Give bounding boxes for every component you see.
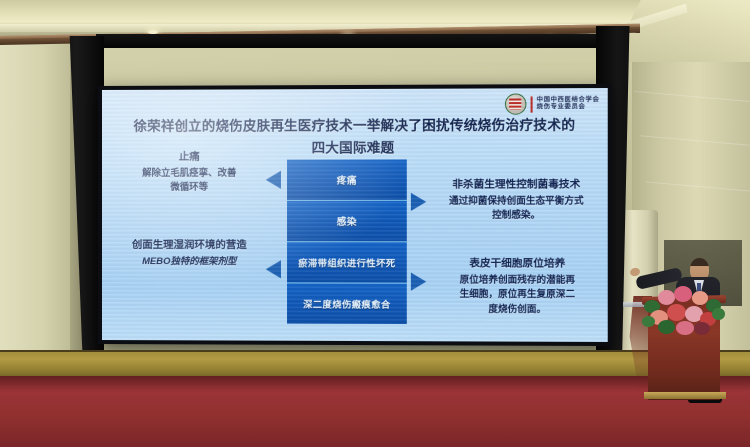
stage-curtain-valance: [96, 34, 606, 48]
note-body-line: 生细胞，原位再生复原深二: [431, 287, 603, 302]
note-heading: 表皮干细胞原位培养: [431, 256, 603, 273]
association-name-line2: 烧伤专业委员会: [537, 104, 600, 111]
slide-title-line1: 徐荣祥创立的烧伤皮肤再生医疗技术一举解决了困扰传统烧伤治疗技术的: [128, 115, 581, 138]
note-heading: 非杀菌生理性控制菌毒技术: [431, 177, 601, 193]
challenge-box-1: 疼痛: [287, 159, 407, 200]
arrow-right-icon: [411, 273, 426, 291]
note-body-line: 微循环等: [108, 180, 271, 194]
association-logo: 中国中西医结合学会 烧伤专业委员会: [505, 93, 600, 115]
note-heading: 创面生理湿润环境的营造: [104, 238, 275, 254]
association-logo-text: 中国中西医结合学会 烧伤专业委员会: [537, 97, 600, 111]
projection-screen-frame: 中国中西医结合学会 烧伤专业委员会 徐荣祥创立的烧伤皮肤再生医疗技术一举解决了困…: [98, 84, 612, 346]
podium-flower-arrangement: [640, 282, 728, 338]
arrow-right-icon: [411, 193, 426, 211]
challenge-label: 深二度烧伤瘢痕愈合: [303, 297, 391, 311]
challenge-box-4: 深二度烧伤瘢痕愈合: [287, 283, 407, 324]
note-heading: 止痛: [108, 150, 271, 166]
challenge-box-3: 瘀滞带组织进行性坏死: [287, 242, 407, 283]
note-left-pain-relief: 止痛 解除立毛肌痉挛、改善 微循环等: [108, 150, 271, 195]
note-right-infection-control: 非杀菌生理性控制菌毒技术 通过抑菌保持创面生态平衡方式 控制感染。: [431, 177, 601, 222]
presentation-slide: 中国中西医结合学会 烧伤专业委员会 徐荣祥创立的烧伤皮肤再生医疗技术一举解决了困…: [102, 88, 608, 342]
note-right-stem-cell-culture: 表皮干细胞原位培养 原位培养创面残存的潜能再 生细胞，原位再生复原深二 度烧伤创…: [431, 256, 603, 316]
challenge-label: 感染: [337, 214, 357, 228]
logo-divider: [530, 96, 532, 112]
projection-screen: 中国中西医结合学会 烧伤专业委员会 徐荣祥创立的烧伤皮肤再生医疗技术一举解决了困…: [102, 88, 608, 342]
challenge-box-2: 感染: [287, 201, 407, 242]
note-body-line: 控制感染。: [431, 208, 601, 223]
note-body-line: 通过抑菌保持创面生态平衡方式: [431, 194, 601, 209]
note-left-moist-environment: 创面生理湿润环境的营造 MEBO独特的框架剂型: [104, 238, 275, 269]
challenge-label: 瘀滞带组织进行性坏死: [298, 255, 395, 269]
left-wall-column: [0, 30, 78, 360]
challenge-label: 疼痛: [337, 173, 357, 187]
note-body-line: 度烧伤创面。: [431, 302, 603, 317]
four-challenges-stack: 疼痛 感染 瘀滞带组织进行性坏死 深二度烧伤瘢痕愈合: [287, 159, 407, 324]
podium-base-trim: [644, 392, 726, 399]
note-body-line: 解除立毛肌痉挛、改善: [108, 166, 271, 181]
conference-hall-photo: 中国中西医结合学会 烧伤专业委员会 徐荣祥创立的烧伤皮肤再生医疗技术一举解决了困…: [0, 0, 750, 447]
association-emblem-icon: [505, 93, 527, 114]
note-body-line: MEBO独特的框架剂型: [104, 254, 275, 269]
note-body-line: 原位培养创面残存的潜能再: [431, 273, 603, 288]
